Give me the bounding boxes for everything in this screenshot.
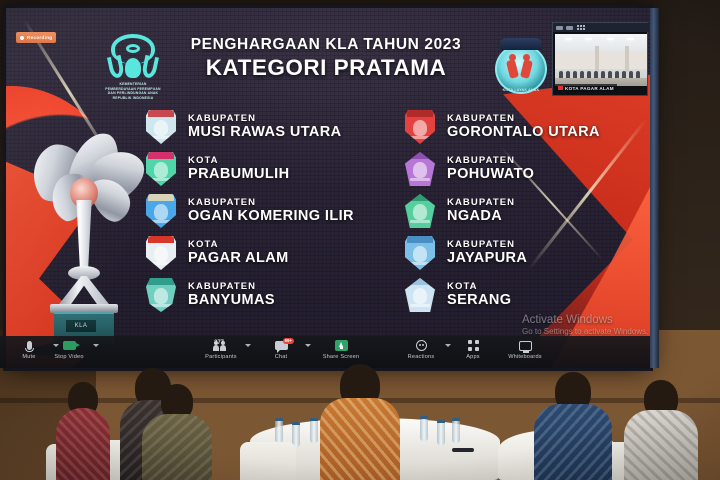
region-emblem-icon — [405, 194, 435, 228]
person — [624, 376, 698, 480]
windows-activation-watermark: Activate Windows Go to Settings to activ… — [522, 314, 650, 336]
region-emblem-icon — [405, 236, 435, 270]
ministry-logo-text: KEMENTERIAN PEMBERDAYAAN PEREMPUAN DAN P… — [104, 82, 162, 100]
slide-title-line2: KATEGORI PRATAMA — [166, 55, 486, 81]
region-emblem-icon — [146, 236, 176, 270]
watermark-line1: Activate Windows — [522, 314, 650, 326]
award-level: KABUPATEN — [188, 114, 342, 124]
award-item: KOTA SERANG — [405, 276, 650, 314]
chat-icon: 99+ — [256, 339, 306, 352]
participant-name: KOTA PAGAR ALAM — [565, 86, 614, 91]
award-item: KABUPATEN MUSI RAWAS UTARA — [146, 108, 391, 146]
flag-icon — [558, 86, 563, 90]
tile-titlebar — [553, 23, 649, 32]
toolbar-camera-button[interactable]: Stop Video — [44, 339, 94, 360]
award-item: KABUPATEN OGAN KOMERING ILIR — [146, 192, 391, 230]
ministry-logo-icon: KEMENTERIAN PEMBERDAYAAN PEREMPUAN DAN P… — [104, 32, 162, 106]
toolbar-apps-button[interactable]: Apps — [448, 339, 498, 360]
toolbar-share-screen-button[interactable]: Share Screen — [316, 339, 366, 360]
region-emblem-icon — [146, 152, 176, 186]
person — [142, 376, 212, 480]
video-participant-tile[interactable]: KOTA PAGAR ALAM — [552, 22, 648, 96]
trophy-plaque: KLA — [66, 320, 96, 332]
chevron-up-icon[interactable] — [245, 344, 251, 347]
chevron-up-icon[interactable] — [93, 344, 99, 347]
kla-logo-icon: KOTA LAYAK ANAK — [492, 40, 550, 102]
award-level: KOTA — [188, 240, 289, 250]
tile-name-label: KOTA PAGAR ALAM — [555, 84, 617, 92]
award-item: KOTA PAGAR ALAM — [146, 234, 391, 272]
award-name: POHUWATO — [447, 167, 534, 182]
toolbar-whiteboard-button[interactable]: Whiteboards — [500, 339, 550, 360]
region-emblem-icon — [146, 194, 176, 228]
award-column-right: KABUPATEN GORONTALO UTARA KABUPATEN POHU… — [391, 108, 650, 314]
slide-titles: PENGHARGAAN KLA TAHUN 2023 KATEGORI PRAT… — [166, 36, 486, 81]
camera-icon — [44, 339, 94, 352]
share-screen-icon — [316, 339, 366, 352]
participant-count: 377 — [214, 340, 224, 346]
award-item: KABUPATEN GORONTALO UTARA — [405, 108, 650, 146]
award-level: KOTA — [188, 156, 289, 166]
award-name: PRABUMULIH — [188, 167, 289, 182]
award-item: KABUPATEN JAYAPURA — [405, 234, 650, 272]
award-level: KOTA — [447, 282, 511, 292]
person — [534, 370, 612, 480]
recording-label: Recording — [27, 35, 52, 40]
person — [56, 380, 110, 480]
award-item: KOTA PRABUMULIH — [146, 150, 391, 188]
award-name: GORONTALO UTARA — [447, 125, 600, 140]
award-level: KABUPATEN — [447, 198, 515, 208]
award-level: KABUPATEN — [447, 114, 600, 124]
award-item: KABUPATEN BANYUMAS — [146, 276, 391, 314]
region-emblem-icon — [146, 110, 176, 144]
toolbar-participants-button[interactable]: 377 Participants — [196, 339, 246, 360]
award-name: PAGAR ALAM — [188, 251, 289, 266]
award-item: KABUPATEN NGADA — [405, 192, 650, 230]
award-name: JAYAPURA — [447, 251, 527, 266]
award-name: NGADA — [447, 209, 515, 224]
award-level: KABUPATEN — [188, 198, 354, 208]
watermark-line2: Go to Settings to activate Windows. — [522, 327, 650, 336]
region-emblem-icon — [405, 110, 435, 144]
region-emblem-icon — [405, 152, 435, 186]
kla-logo-text: KOTA LAYAK ANAK — [492, 88, 550, 92]
foreground-audience — [0, 360, 720, 480]
apps-icon — [448, 339, 498, 352]
award-column-left: KABUPATEN MUSI RAWAS UTARA KOTA PRABUMUL… — [6, 108, 391, 314]
toolbar-reactions-button[interactable]: Reactions — [396, 339, 446, 360]
award-name: MUSI RAWAS UTARA — [188, 125, 342, 140]
whiteboard-icon — [500, 339, 550, 352]
award-item: KABUPATEN POHUWATO — [405, 150, 650, 188]
recording-indicator: Recording — [16, 32, 56, 43]
participants-icon: 377 — [196, 339, 246, 352]
region-emblem-icon — [146, 278, 176, 312]
reactions-icon — [396, 339, 446, 352]
award-name: OGAN KOMERING ILIR — [188, 209, 354, 224]
person — [320, 364, 400, 480]
projection-screen: KLA KEMENTERIAN PEMBERDAYAAN PEREMPUAN D… — [6, 8, 650, 368]
award-columns: KABUPATEN MUSI RAWAS UTARA KOTA PRABUMUL… — [6, 108, 650, 314]
chevron-up-icon[interactable] — [305, 344, 311, 347]
award-name: BANYUMAS — [188, 293, 275, 308]
award-level: KABUPATEN — [447, 240, 527, 250]
slide-title-line1: PENGHARGAAN KLA TAHUN 2023 — [166, 36, 486, 54]
screenshot-root: KLA KEMENTERIAN PEMBERDAYAAN PEREMPUAN D… — [0, 0, 720, 480]
recording-dot-icon — [20, 36, 24, 40]
screen-frame-right — [650, 8, 659, 368]
tile-video-feed — [555, 34, 647, 86]
award-level: KABUPATEN — [188, 282, 275, 292]
region-emblem-icon — [405, 278, 435, 312]
chat-badge: 99+ — [283, 338, 294, 344]
award-level: KABUPATEN — [447, 156, 534, 166]
toolbar-chat-button[interactable]: 99+ Chat — [256, 339, 306, 360]
award-name: SERANG — [447, 293, 511, 308]
